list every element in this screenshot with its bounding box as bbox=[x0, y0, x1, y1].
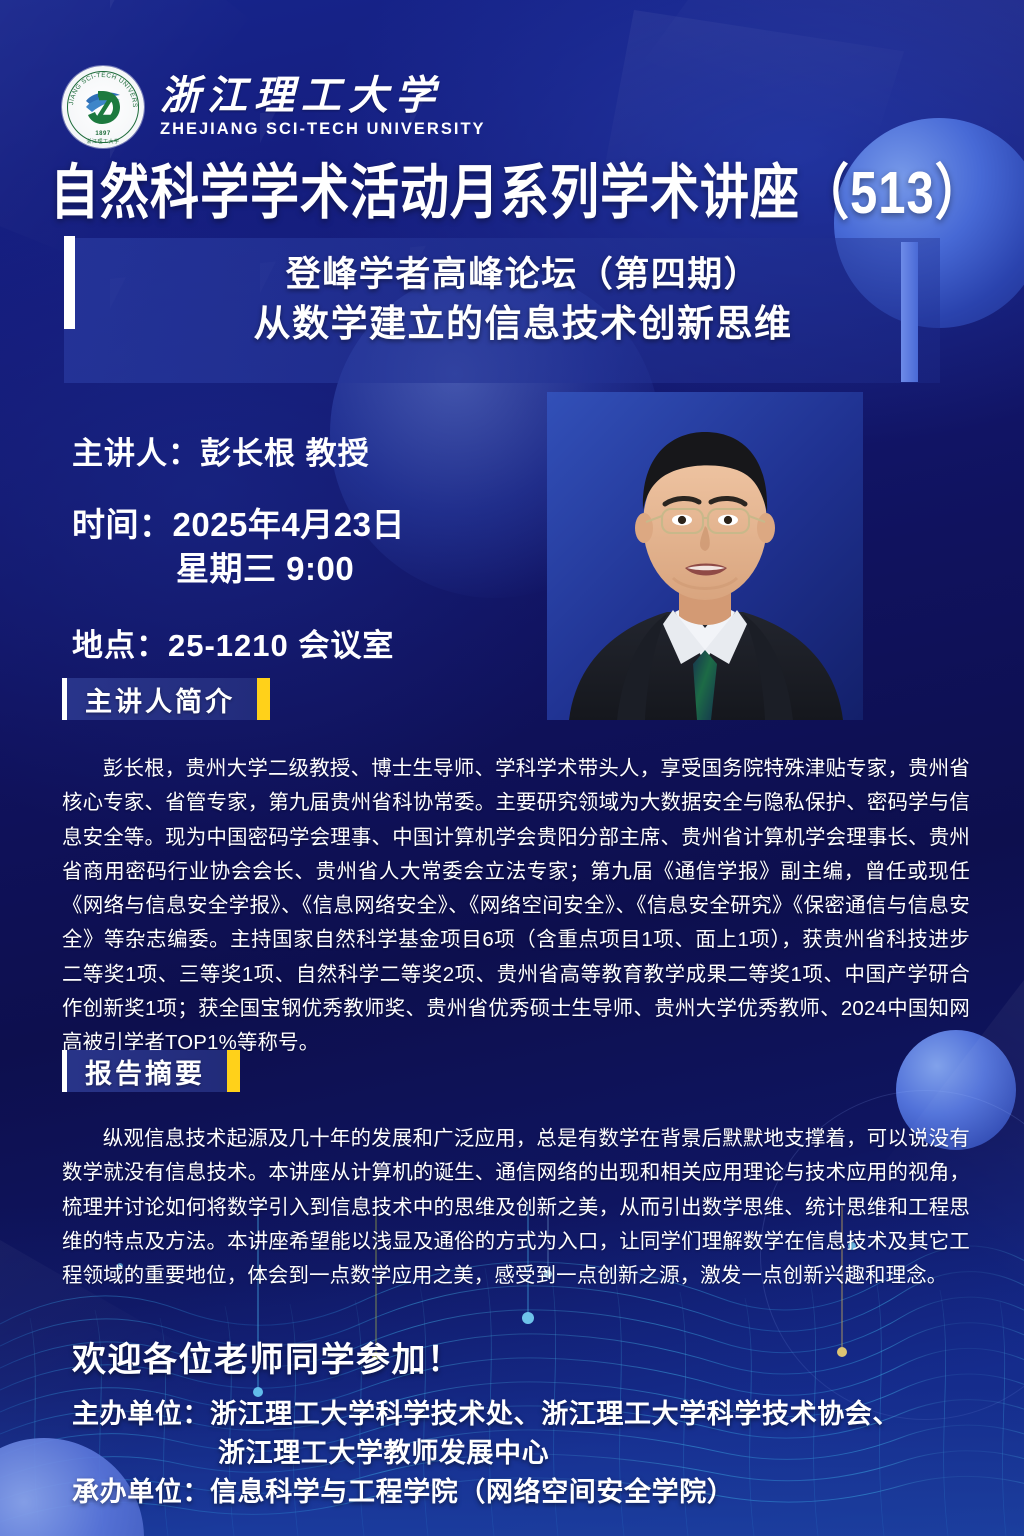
abstract-header-label: 报告摘要 bbox=[85, 1052, 205, 1091]
bio-header-panel: 主讲人简介 bbox=[67, 678, 257, 720]
subtitle-line-1: 登峰学者高峰论坛（第四期） bbox=[106, 252, 940, 299]
university-branding: ZHEJIANG SCI-TECH UNIVERSITY 1897 浙江理工大学… bbox=[62, 66, 486, 148]
place-line: 地点：25-1210 会议室 bbox=[72, 620, 542, 665]
bio-header-yellow-bar bbox=[257, 678, 270, 720]
abstract-paragraph: 纵观信息技术起源及几十年的发展和广泛应用，总是有数学在背景后默默地支撑着，可以说… bbox=[62, 1122, 970, 1293]
subtitle-banner: 登峰学者高峰论坛（第四期） 从数学建立的信息技术创新思维 bbox=[64, 238, 940, 383]
page-title: 自然科学学术活动月系列学术讲座（513） bbox=[50, 162, 990, 227]
host-line-1: 主办单位：浙江理工大学科学技术处、浙江理工大学科学技术协会、 bbox=[72, 1395, 992, 1434]
time-block: 时间：2025年4月23日 星期三 9:00 bbox=[72, 503, 542, 590]
university-name-block: 浙江理工大学 ZHEJIANG SCI-TECH UNIVERSITY bbox=[160, 75, 486, 139]
organizer-line: 承办单位：信息科学与工程学院（网络空间安全学院） bbox=[72, 1473, 992, 1512]
university-logo-icon: ZHEJIANG SCI-TECH UNIVERSITY 1897 浙江理工大学 bbox=[62, 66, 144, 148]
university-name-en: ZHEJIANG SCI-TECH UNIVERSITY bbox=[160, 120, 486, 139]
subtitle-text-block: 登峰学者高峰论坛（第四期） 从数学建立的信息技术创新思维 bbox=[64, 252, 940, 348]
footer-block: 欢迎各位老师同学参加！ 主办单位：浙江理工大学科学技术处、浙江理工大学科学技术协… bbox=[72, 1332, 992, 1512]
logo-z-wave-icon bbox=[80, 87, 126, 127]
subtitle-line-2: 从数学建立的信息技术创新思维 bbox=[106, 299, 940, 349]
abstract-header-panel: 报告摘要 bbox=[67, 1050, 227, 1092]
bio-header-label: 主讲人简介 bbox=[85, 680, 235, 719]
poster-canvas: ZHEJIANG SCI-TECH UNIVERSITY 1897 浙江理工大学… bbox=[0, 0, 1024, 1536]
time-line-1: 时间：2025年4月23日 bbox=[72, 503, 542, 547]
portrait-illustration bbox=[547, 392, 863, 720]
logo-founding-year: 1897 bbox=[62, 131, 144, 137]
event-details: 主讲人：彭长根 教授 时间：2025年4月23日 星期三 9:00 地点：25-… bbox=[72, 428, 542, 665]
section-header-abstract: 报告摘要 bbox=[62, 1050, 240, 1092]
welcome-line: 欢迎各位老师同学参加！ bbox=[72, 1332, 992, 1381]
section-header-bio: 主讲人简介 bbox=[62, 678, 270, 720]
speaker-line: 主讲人：彭长根 教授 bbox=[72, 428, 542, 473]
logo-emblem bbox=[73, 77, 133, 137]
logo-ring-cn-text: 浙江理工大学 bbox=[62, 138, 144, 145]
abstract-header-yellow-bar bbox=[227, 1050, 240, 1092]
time-line-2: 星期三 9:00 bbox=[72, 547, 542, 591]
bio-paragraph: 彭长根，贵州大学二级教授、博士生导师、学科学术带头人，享受国务院特殊津贴专家，贵… bbox=[62, 752, 970, 1061]
university-name-cn: 浙江理工大学 bbox=[160, 75, 486, 117]
speaker-portrait-photo bbox=[547, 392, 863, 720]
host-line-2: 浙江理工大学教师发展中心 bbox=[72, 1434, 992, 1473]
